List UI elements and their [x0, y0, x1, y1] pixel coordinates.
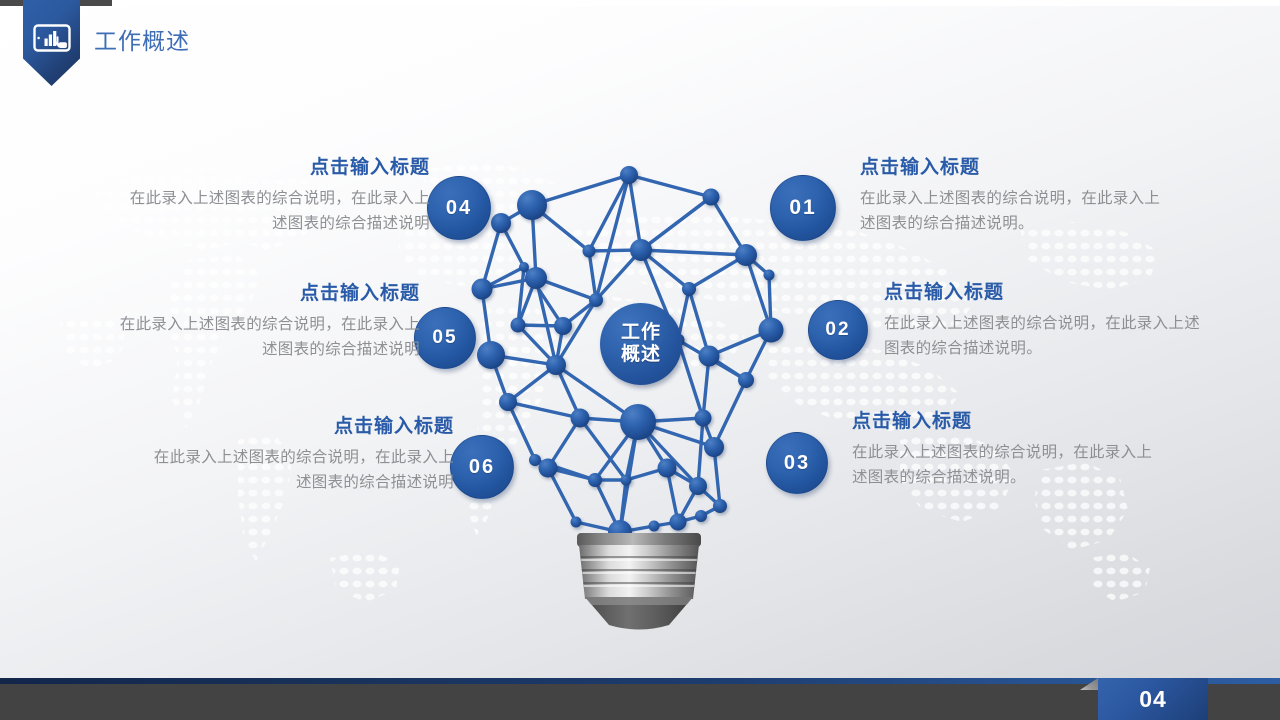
number-badge-04-label: 04	[446, 197, 472, 220]
content-block-02-title: 点击输入标题	[884, 280, 1204, 306]
number-badge-03[interactable]: 03	[766, 432, 828, 494]
center-label-line1: 工作	[621, 322, 661, 344]
slide-header: 工作概述	[0, 0, 1280, 108]
content-block-02-description: 在此录入上述图表的综合说明，在此录入上述图表的综合描述说明。	[884, 311, 1204, 361]
content-block-04[interactable]: 点击输入标题 在此录入上述图表的综合说明，在此录入上述图表的综合描述说明	[120, 155, 430, 236]
number-badge-05-label: 05	[432, 327, 457, 349]
center-label-circle: 工作 概述	[600, 303, 682, 385]
number-badge-01-label: 01	[789, 196, 816, 220]
content-block-01[interactable]: 点击输入标题 在此录入上述图表的综合说明，在此录入上述图表的综合描述说明。	[860, 155, 1170, 236]
content-block-06-title: 点击输入标题	[148, 414, 454, 440]
content-block-01-title: 点击输入标题	[860, 155, 1170, 181]
page-title: 工作概述	[94, 26, 190, 56]
number-badge-02[interactable]: 02	[808, 300, 868, 360]
page-number-box: 04	[1098, 678, 1208, 720]
content-block-05[interactable]: 点击输入标题 在此录入上述图表的综合说明，在此录入上述图表的综合描述说明	[110, 281, 420, 362]
content-block-03[interactable]: 点击输入标题 在此录入上述图表的综合说明，在此录入上述图表的综合描述说明。	[852, 409, 1164, 490]
content-block-01-description: 在此录入上述图表的综合说明，在此录入上述图表的综合描述说明。	[860, 186, 1170, 236]
number-badge-06[interactable]: 06	[450, 435, 514, 499]
content-block-05-title: 点击输入标题	[110, 281, 420, 307]
number-badge-06-label: 06	[469, 456, 495, 479]
lightbulb-screw-base	[565, 533, 713, 631]
content-block-02[interactable]: 点击输入标题 在此录入上述图表的综合说明，在此录入上述图表的综合描述说明。	[884, 280, 1204, 361]
content-block-04-title: 点击输入标题	[120, 155, 430, 181]
center-label-line2: 概述	[621, 344, 661, 366]
content-block-03-description: 在此录入上述图表的综合说明，在此录入上述图表的综合描述说明。	[852, 440, 1164, 490]
number-badge-02-label: 02	[825, 319, 850, 341]
content-block-06[interactable]: 点击输入标题 在此录入上述图表的综合说明，在此录入上述图表的综合描述说明	[148, 414, 454, 495]
number-badge-04[interactable]: 04	[427, 176, 491, 240]
content-block-03-title: 点击输入标题	[852, 409, 1164, 435]
number-badge-05[interactable]: 05	[414, 307, 476, 369]
content-block-05-description: 在此录入上述图表的综合说明，在此录入上述图表的综合描述说明	[110, 312, 420, 362]
tablet-chart-touch-icon	[33, 24, 71, 52]
content-block-06-description: 在此录入上述图表的综合说明，在此录入上述图表的综合描述说明	[148, 445, 454, 495]
content-block-04-description: 在此录入上述图表的综合说明，在此录入上述图表的综合描述说明	[120, 186, 430, 236]
slide-canvas: 工作概述	[0, 0, 1280, 720]
number-badge-03-label: 03	[784, 452, 810, 475]
number-badge-01[interactable]: 01	[770, 175, 836, 241]
page-number-label: 04	[1139, 686, 1167, 713]
